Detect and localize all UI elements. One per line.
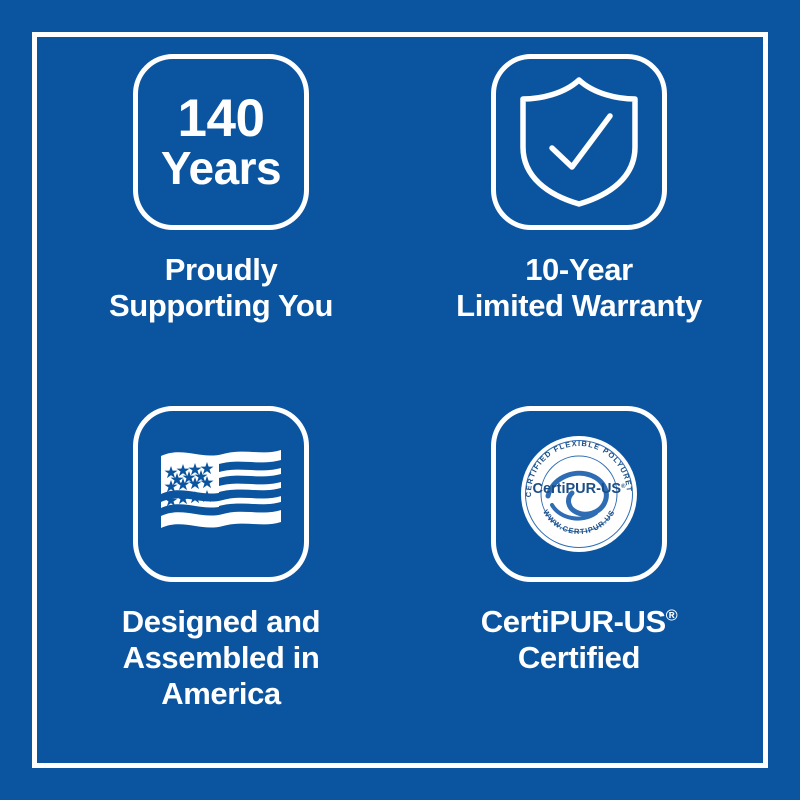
- years-number: 140: [161, 93, 281, 145]
- years-word: Years: [161, 145, 281, 191]
- badge-made-in-america: Designed and Assembled in America: [42, 406, 400, 758]
- badge-caption-warranty: 10-Year Limited Warranty: [456, 252, 702, 324]
- badge-caption-made-in-america: Designed and Assembled in America: [122, 604, 320, 712]
- 140-years-text-icon: 140 Years: [161, 93, 281, 191]
- american-flag-icon: [157, 444, 285, 544]
- flag-icon-box: [133, 406, 309, 582]
- badge-panel: 140 Years Proudly Supporting You 10-Year…: [0, 0, 800, 800]
- certipur-caption-line2: Certified: [518, 640, 640, 675]
- badge-grid: 140 Years Proudly Supporting You 10-Year…: [32, 32, 768, 768]
- badge-caption-certipur: CertiPUR-US®Certified: [481, 604, 678, 676]
- badge-warranty: 10-Year Limited Warranty: [400, 54, 758, 406]
- certipur-us-seal-icon: CONTAINS CERTIFIED FLEXIBLE POLYURETHANE…: [518, 433, 640, 555]
- certipur-caption-line1: CertiPUR-US: [481, 604, 666, 639]
- badge-years: 140 Years Proudly Supporting You: [42, 54, 400, 406]
- badge-certipur: CONTAINS CERTIFIED FLEXIBLE POLYURETHANE…: [400, 406, 758, 758]
- certipur-icon-box: CONTAINS CERTIFIED FLEXIBLE POLYURETHANE…: [491, 406, 667, 582]
- warranty-icon-box: [491, 54, 667, 230]
- badge-caption-years: Proudly Supporting You: [109, 252, 333, 324]
- shield-check-icon: [514, 75, 644, 209]
- seal-center-text: CertiPUR-US®: [532, 481, 626, 497]
- years-icon-box: 140 Years: [133, 54, 309, 230]
- registered-mark: ®: [666, 607, 677, 625]
